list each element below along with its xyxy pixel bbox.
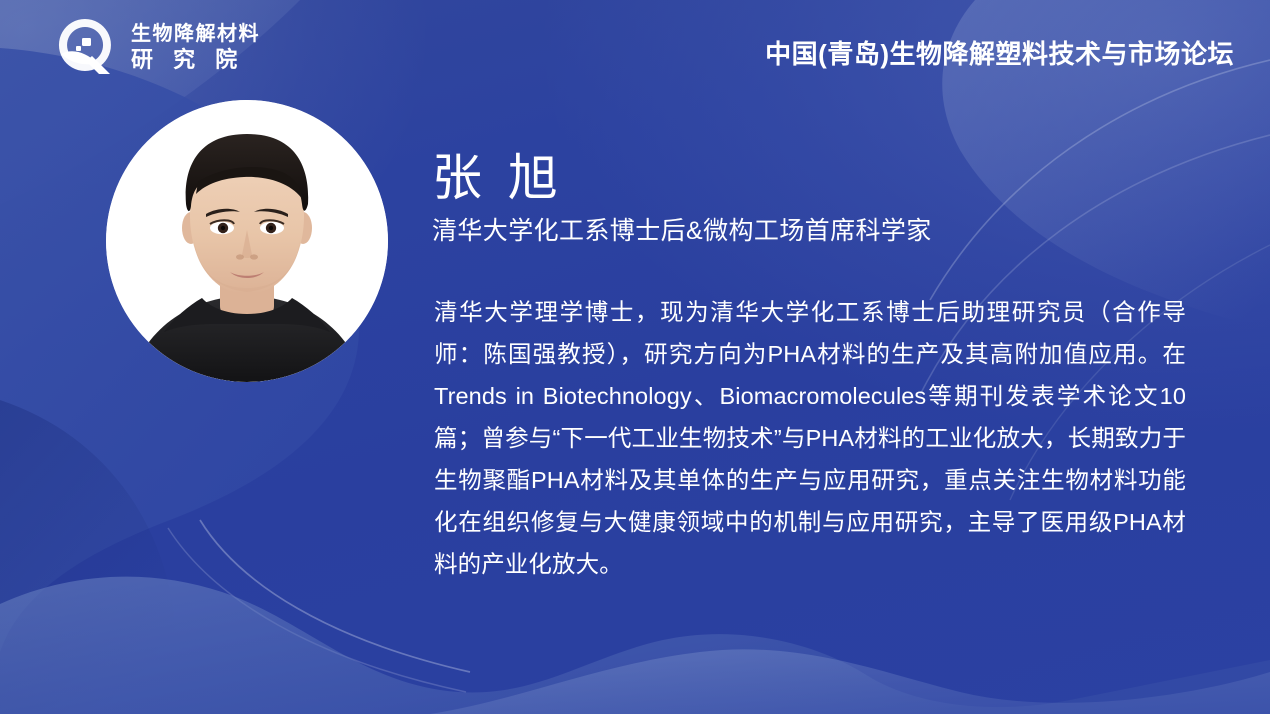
- institute-logo: 生物降解材料 研 究 院: [52, 16, 260, 80]
- speaker-portrait: [106, 100, 388, 382]
- forum-title: 中国(青岛)生物降解塑料技术与市场论坛: [765, 34, 1234, 71]
- speaker-photo: [106, 100, 388, 382]
- speaker-intro-slide: 生物降解材料 研 究 院 中国(青岛)生物降解塑料技术与市场论坛: [0, 0, 1270, 714]
- speaker-info: 张 旭 清华大学化工系博士后&微构工场首席科学家 清华大学理学博士，现为清华大学…: [432, 150, 1192, 585]
- speaker-name: 张 旭: [432, 150, 1192, 206]
- institute-logo-wordmark: 生物降解材料 研 究 院: [131, 24, 260, 71]
- slide-header: 生物降解材料 研 究 院 中国(青岛)生物降解塑料技术与市场论坛: [0, 0, 1270, 96]
- institute-logo-icon: [52, 16, 118, 80]
- logo-line-1: 生物降解材料: [131, 24, 260, 45]
- speaker-bio: 清华大学理学博士，现为清华大学化工系博士后助理研究员（合作导师：陈国强教授），研…: [434, 291, 1186, 585]
- logo-line-2: 研 究 院: [131, 48, 260, 71]
- speaker-role: 清华大学化工系博士后&微构工场首席科学家: [432, 216, 1192, 247]
